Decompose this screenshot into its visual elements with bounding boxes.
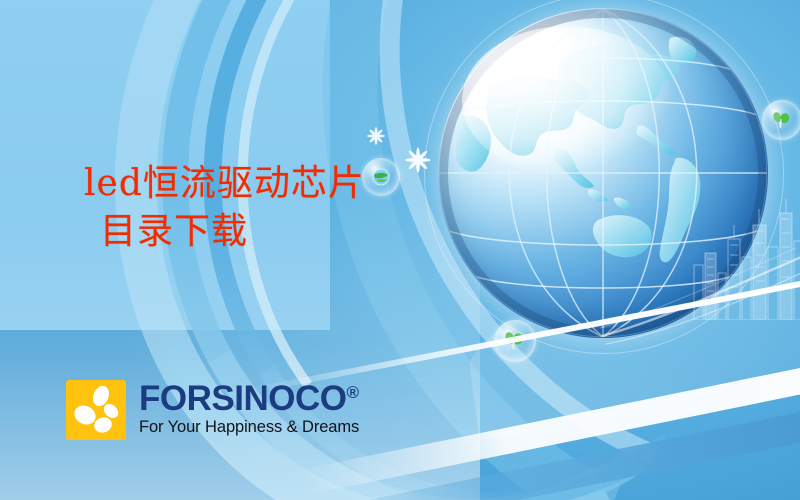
headline-line-1: led恒流驱动芯片 bbox=[84, 160, 504, 208]
swoosh-band-blue bbox=[327, 369, 800, 500]
swoosh-band-white-thick bbox=[297, 331, 800, 496]
leaf-sprout-icon bbox=[770, 108, 794, 132]
leaf-sprout-icon bbox=[502, 328, 528, 354]
city-skyline-icon bbox=[690, 195, 800, 320]
headline-line-2: 目录下载 bbox=[84, 208, 504, 256]
banner-canvas: led恒流驱动芯片 目录下载 FORSINOCO ® For Your Happ… bbox=[0, 0, 800, 500]
background-soft-sweep bbox=[460, 228, 800, 439]
swoosh-line-white-thin bbox=[249, 254, 800, 393]
bubble-leaf-icon bbox=[494, 320, 536, 362]
flower-burst-icon bbox=[366, 126, 386, 146]
logo-company-name: FORSINOCO bbox=[139, 383, 346, 416]
globe-highlight bbox=[462, 26, 672, 176]
logo-petal-mark-icon bbox=[66, 380, 126, 440]
logo-text-block: FORSINOCO ® For Your Happiness & Dreams bbox=[139, 383, 359, 436]
logo-wordmark: FORSINOCO ® bbox=[139, 383, 359, 416]
company-logo[interactable]: FORSINOCO ® For Your Happiness & Dreams bbox=[66, 380, 359, 440]
light-trail-streaks bbox=[600, 240, 800, 350]
logo-tagline: For Your Happiness & Dreams bbox=[139, 418, 359, 436]
bubble-leaf-icon bbox=[762, 100, 800, 140]
headline-block: led恒流驱动芯片 目录下载 bbox=[84, 160, 504, 256]
registered-trademark-icon: ® bbox=[346, 384, 358, 401]
